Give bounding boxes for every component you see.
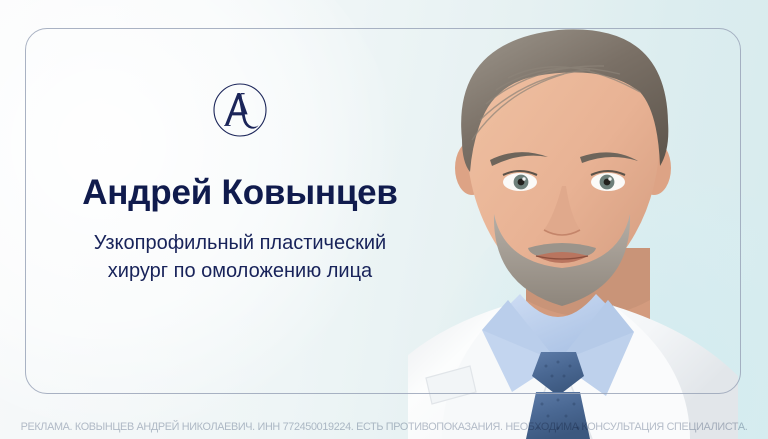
page-title: Андрей Ковынцев: [82, 174, 398, 213]
headline-block: Андрей Ковынцев Узкопрофильный пластичес…: [25, 28, 455, 394]
subtitle-line-1: Узкопрофильный пластический: [94, 232, 386, 254]
page-subtitle: Узкопрофильный пластический хирург по ом…: [94, 229, 386, 286]
advertising-banner[interactable]: Андрей Ковынцев Узкопрофильный пластичес…: [0, 0, 768, 439]
ak-monogram-logo[interactable]: [210, 80, 270, 140]
legal-disclaimer: РЕКЛАМА. КОВЫНЦЕВ АНДРЕЙ НИКОЛАЕВИЧ. ИНН…: [6, 421, 762, 433]
background-glow-right: [428, 179, 768, 439]
doctor-portrait: [408, 0, 768, 439]
subtitle-line-2: хирург по омоложению лица: [108, 260, 372, 282]
